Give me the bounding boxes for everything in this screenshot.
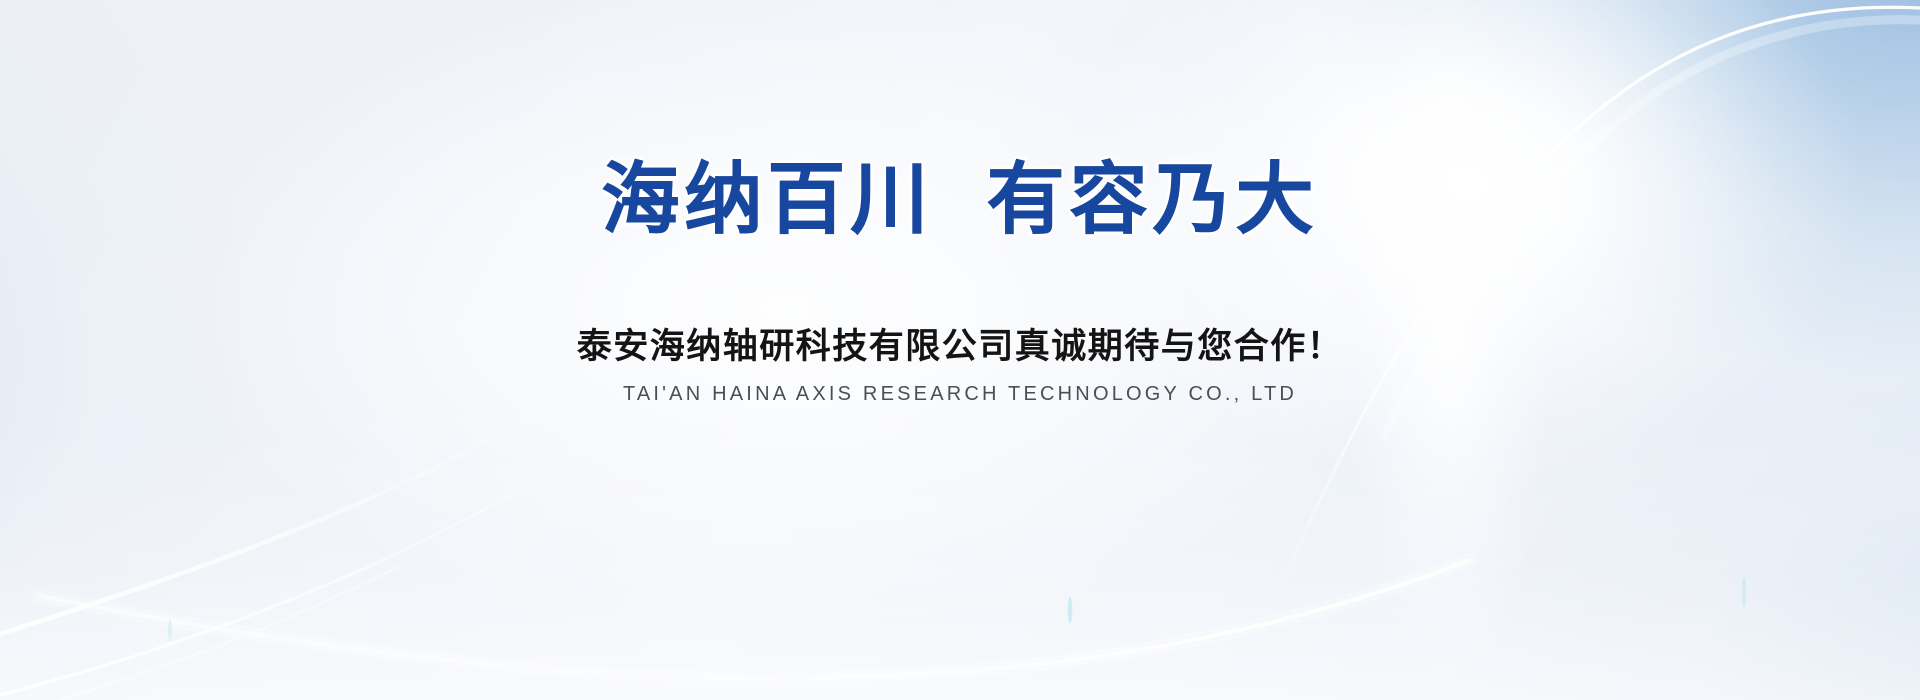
hero-banner: 海纳百川 有容乃大 泰安海纳轴研科技有限公司真诚期待与您合作！ TAI'AN H…: [0, 0, 1920, 700]
banner-subtitle-english: TAI'AN HAINA AXIS RESEARCH TECHNOLOGY CO…: [623, 383, 1297, 406]
banner-subtitle-chinese: 泰安海纳轴研科技有限公司真诚期待与您合作！: [577, 318, 1344, 369]
banner-content: 海纳百川 有容乃大 泰安海纳轴研科技有限公司真诚期待与您合作！ TAI'AN H…: [0, 0, 1920, 700]
banner-headline: 海纳百川 有容乃大: [601, 158, 1318, 241]
